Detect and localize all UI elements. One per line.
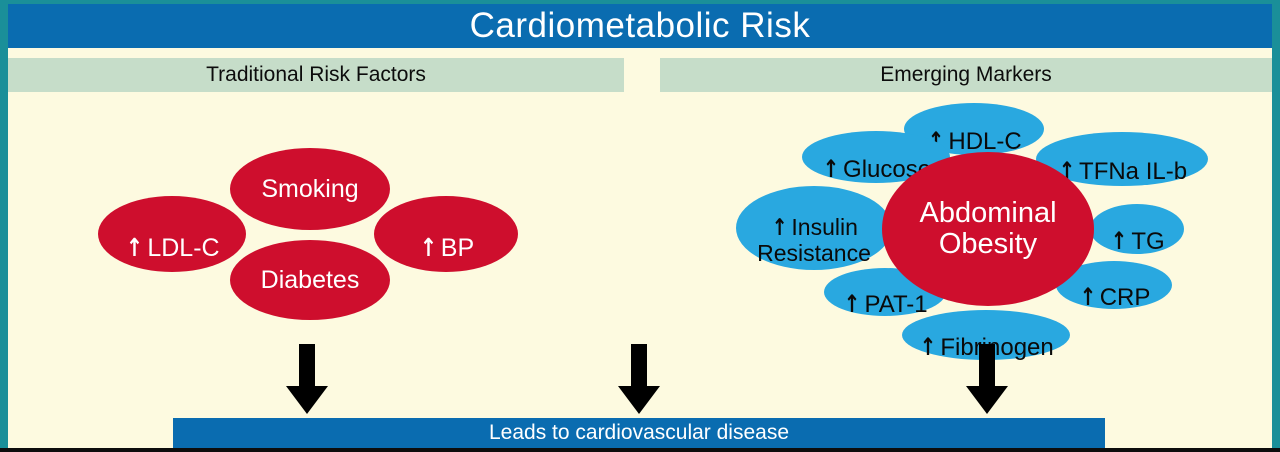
section-header-traditional: Traditional Risk Factors: [8, 58, 624, 92]
node-label-crp: CRP: [1100, 284, 1151, 311]
cardiometabolic-risk-figure: Cardiometabolic Risk Traditional Risk Fa…: [0, 0, 1280, 452]
figure-border-bottom: [0, 448, 1280, 452]
node-label-ldl-c: LDL-C: [147, 234, 219, 262]
up-arrow-icon: ↑: [772, 216, 788, 241]
node-label-smoking: Smoking: [257, 176, 362, 203]
up-arrow-icon: ↑: [1079, 285, 1095, 311]
section-label-traditional: Traditional Risk Factors: [206, 63, 426, 87]
flow-arrow-right: [964, 344, 1010, 416]
figure-title: Cardiometabolic Risk: [470, 6, 811, 46]
node-diabetes: Diabetes: [230, 240, 390, 320]
up-arrow-icon: ↑: [844, 292, 860, 318]
section-header-emerging: Emerging Markers: [660, 58, 1272, 92]
node-label-bp: BP: [441, 234, 474, 262]
figure-title-bar: Cardiometabolic Risk: [8, 4, 1272, 48]
outcome-bar: Leads to cardiovascular disease: [173, 418, 1105, 448]
up-arrow-icon: ↑: [920, 335, 936, 361]
node-label-hdl-c: HDL-C: [948, 128, 1021, 155]
node-label-abdominal-obesity: Abdominal Obesity: [915, 198, 1060, 261]
flow-arrow-middle: [616, 344, 662, 416]
flow-arrow-left: [284, 344, 330, 416]
node-bp: ↑BP: [374, 196, 518, 272]
node-label-diabetes: Diabetes: [257, 267, 364, 294]
node-label-tg: TG: [1131, 228, 1164, 255]
figure-border-left: [0, 0, 8, 452]
up-arrow-icon: ↑: [823, 157, 839, 183]
node-abdominal-obesity: Abdominal Obesity: [882, 152, 1094, 306]
figure-border-right: [1272, 0, 1280, 452]
section-label-emerging: Emerging Markers: [880, 63, 1052, 87]
node-ldl-c: ↑LDL-C: [98, 196, 246, 272]
node-smoking: Smoking: [230, 148, 390, 230]
node-label-tfna-il-b: TFNa IL-b: [1079, 158, 1187, 185]
node-insulin-resistance: ↑Insulin Resistance: [736, 186, 892, 270]
up-arrow-icon: ↑: [126, 234, 143, 261]
outcome-label: Leads to cardiovascular disease: [489, 421, 789, 445]
up-arrow-icon: ↑: [1111, 229, 1127, 255]
up-arrow-icon: ↑: [420, 234, 437, 261]
node-tg: ↑TG: [1090, 204, 1184, 254]
